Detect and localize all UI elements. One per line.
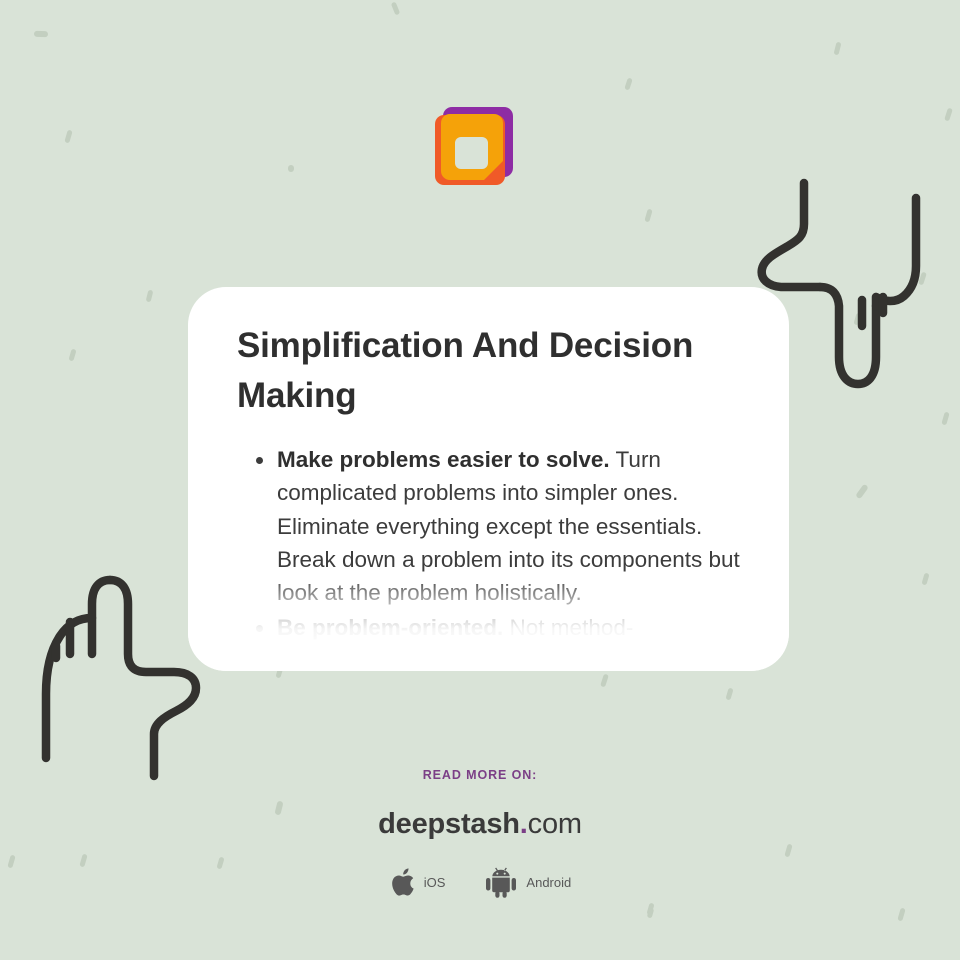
store-label-ios: iOS — [424, 875, 446, 890]
page-title: Simplification And Decision Making — [237, 321, 747, 421]
background-speck — [944, 108, 953, 122]
background-speck — [64, 130, 72, 144]
background-speck — [68, 349, 76, 362]
store-badge-android[interactable]: Android — [485, 867, 571, 898]
android-icon — [485, 867, 517, 898]
background-speck — [897, 908, 905, 922]
background-speck — [146, 290, 154, 303]
store-badges: iOS — [0, 867, 960, 898]
bullet-dot-icon — [256, 457, 263, 464]
background-speck — [853, 313, 861, 326]
poster-canvas: Simplification And Decision Making Make … — [0, 0, 960, 960]
read-more-label: READ MORE ON: — [0, 768, 960, 782]
background-speck — [921, 573, 929, 586]
background-speck — [834, 42, 842, 56]
background-speck — [918, 272, 927, 286]
background-speck — [600, 674, 609, 688]
background-speck — [624, 78, 632, 91]
store-label-android: Android — [526, 875, 571, 890]
background-speck — [725, 688, 733, 701]
list-item-body: Not method- — [510, 615, 634, 640]
background-speck — [391, 2, 401, 16]
brand-name: deepstash — [378, 808, 520, 840]
background-speck — [941, 412, 949, 426]
bullet-list: Make problems easier to solve. Turn comp… — [237, 443, 747, 645]
background-speck — [855, 484, 869, 500]
pointing-hand-doodle-bottom-left — [26, 558, 206, 786]
apple-icon — [389, 867, 415, 898]
list-item: Be problem-oriented. Not method- — [237, 611, 747, 644]
idea-card: Simplification And Decision Making Make … — [188, 287, 789, 671]
store-badge-ios[interactable]: iOS — [389, 867, 446, 898]
bullet-dot-icon — [256, 625, 263, 632]
background-speck — [644, 209, 652, 223]
background-speck — [647, 908, 655, 919]
background-speck — [288, 165, 294, 172]
list-item-lead: Be problem-oriented. — [277, 615, 503, 640]
card-content: Simplification And Decision Making Make … — [188, 287, 789, 647]
list-item: Make problems easier to solve. Turn comp… — [237, 443, 747, 609]
brand-dot: . — [520, 808, 528, 840]
background-speck — [646, 903, 654, 916]
background-speck — [34, 31, 48, 37]
brand-tld: com — [528, 808, 582, 840]
list-item-lead: Make problems easier to solve. — [277, 447, 610, 472]
deepstash-logo — [429, 103, 517, 197]
footer: READ MORE ON: deepstash.com iOS — [0, 768, 960, 898]
brand-wordmark: deepstash.com — [0, 808, 960, 841]
